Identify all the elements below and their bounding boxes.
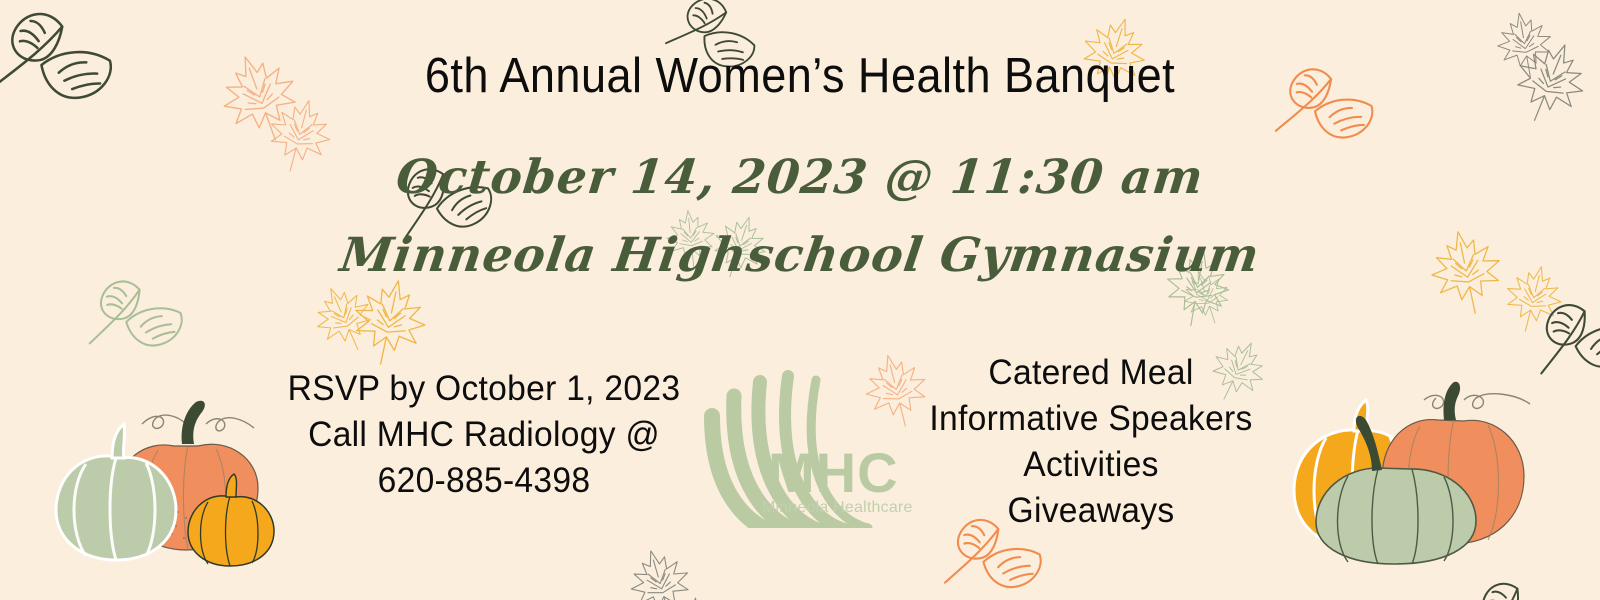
tendril-icon [1424, 394, 1530, 409]
event-datetime: October 14, 2023 @ 11:30 am [0, 150, 1600, 205]
autumn-event-poster: 6th Annual Women’s Health Banquet Octobe… [0, 0, 1600, 600]
feature-item: Giveaways [908, 488, 1275, 534]
maple-leaf-gold-2-icon [297, 270, 394, 372]
feature-item: Catered Meal [908, 350, 1275, 396]
sage-pumpkin [56, 424, 176, 560]
feature-item: Informative Speakers [908, 396, 1275, 442]
pumpkin-stem-icon [112, 424, 125, 458]
feature-item: Activities [908, 442, 1275, 488]
mhc-logo-subtitle: Minneola Healthcare [762, 499, 913, 517]
mhc-logo-initials: MHC [768, 440, 899, 505]
features-block: Catered Meal Informative Speakers Activi… [908, 350, 1275, 534]
pumpkin-cluster-left [46, 368, 346, 573]
pumpkin-stem-icon [1443, 382, 1460, 420]
maple-leaf-gray-3-icon [613, 535, 708, 600]
page-title: 6th Annual Women’s Health Banquet [64, 48, 1536, 104]
maple-leaf-gray-4-icon [653, 589, 729, 600]
event-venue: Minneola Highschool Gymnasium [0, 228, 1600, 283]
pumpkin-cluster-right [1248, 358, 1568, 573]
mhc-logo: MHC Minneola Healthcare [690, 358, 920, 528]
pumpkin-stem-icon [182, 401, 205, 444]
